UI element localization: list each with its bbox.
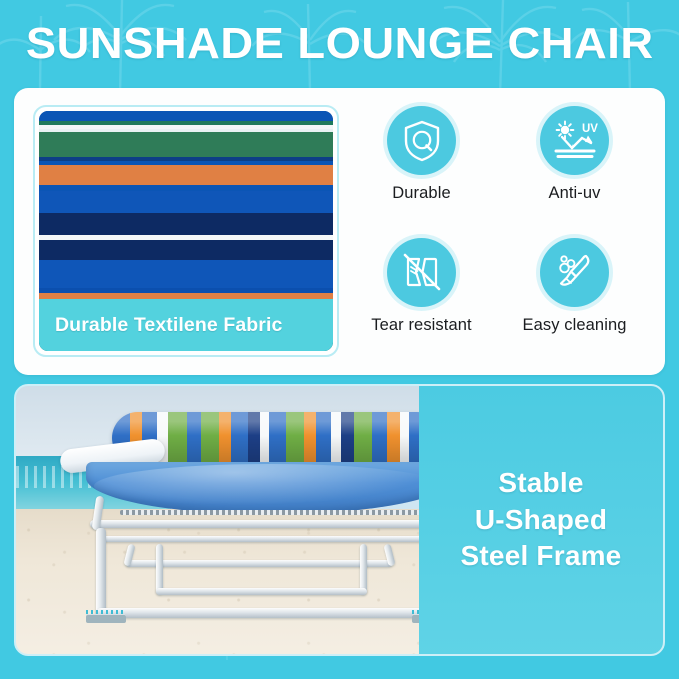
- feature-label: Anti-uv: [548, 184, 600, 203]
- uv-protection-icon: UV: [540, 106, 609, 175]
- lounge-chair: [34, 404, 474, 640]
- fabric-label: Durable Textilene Fabric: [39, 299, 333, 351]
- feature-anti-uv: UV Anti-uv: [498, 102, 651, 234]
- fabric-swatch: Durable Textilene Fabric: [33, 105, 339, 357]
- frame-rail-upper-back: [102, 536, 434, 542]
- features-card: Durable Textilene Fabric Durable: [14, 88, 665, 375]
- fabric-stripe: [39, 240, 333, 260]
- frame-back-crossbar: [156, 588, 367, 595]
- fabric-stripe: [39, 191, 333, 213]
- feature-tear-resistant: Tear resistant: [345, 234, 498, 366]
- callout-line-2: U-Shaped: [475, 502, 607, 538]
- frame-foot-left-detail: [86, 610, 126, 614]
- feature-label: Durable: [392, 184, 450, 203]
- beach-scene-photo: Stable U-Shaped Steel Frame: [16, 386, 663, 654]
- page-title: SUNSHADE LOUNGE CHAIR: [26, 19, 654, 69]
- svg-text:UV: UV: [582, 123, 598, 135]
- feature-label: Easy cleaning: [522, 316, 626, 335]
- callout-line-3: Steel Frame: [461, 538, 622, 574]
- fabric-stripe: [39, 260, 333, 287]
- fabric-stripe: [39, 111, 333, 121]
- frame-cross-support: [126, 560, 392, 567]
- feature-easy-cleaning: Easy cleaning: [498, 234, 651, 366]
- fabric-swatch-image: Durable Textilene Fabric: [39, 111, 333, 351]
- frame-back-leg-right: [360, 544, 367, 594]
- seat-spring-row: [120, 510, 420, 515]
- frame-u-base-bar: [96, 608, 442, 618]
- product-photo-panel: Stable U-Shaped Steel Frame: [14, 384, 665, 656]
- no-tear-fabric-icon: [387, 238, 456, 307]
- frame-callout-overlay: Stable U-Shaped Steel Frame: [419, 386, 663, 654]
- feature-durable: Durable: [345, 102, 498, 234]
- header: SUNSHADE LOUNGE CHAIR: [0, 0, 679, 88]
- shield-quality-icon: [387, 106, 456, 175]
- feature-grid: Durable UV: [339, 88, 665, 375]
- frame-foot-left: [86, 614, 126, 623]
- frame-back-leg-left: [156, 544, 163, 594]
- cleaning-brush-icon: [540, 238, 609, 307]
- frame-front-leg-left: [96, 528, 106, 616]
- feature-label: Tear resistant: [371, 316, 471, 335]
- frame-rail-upper-front: [90, 520, 448, 528]
- callout-line-1: Stable: [498, 465, 583, 501]
- fabric-stripe: [39, 132, 333, 157]
- fabric-stripe: [39, 165, 333, 185]
- fabric-stripe: [39, 213, 333, 235]
- seat-highlight: [94, 464, 444, 508]
